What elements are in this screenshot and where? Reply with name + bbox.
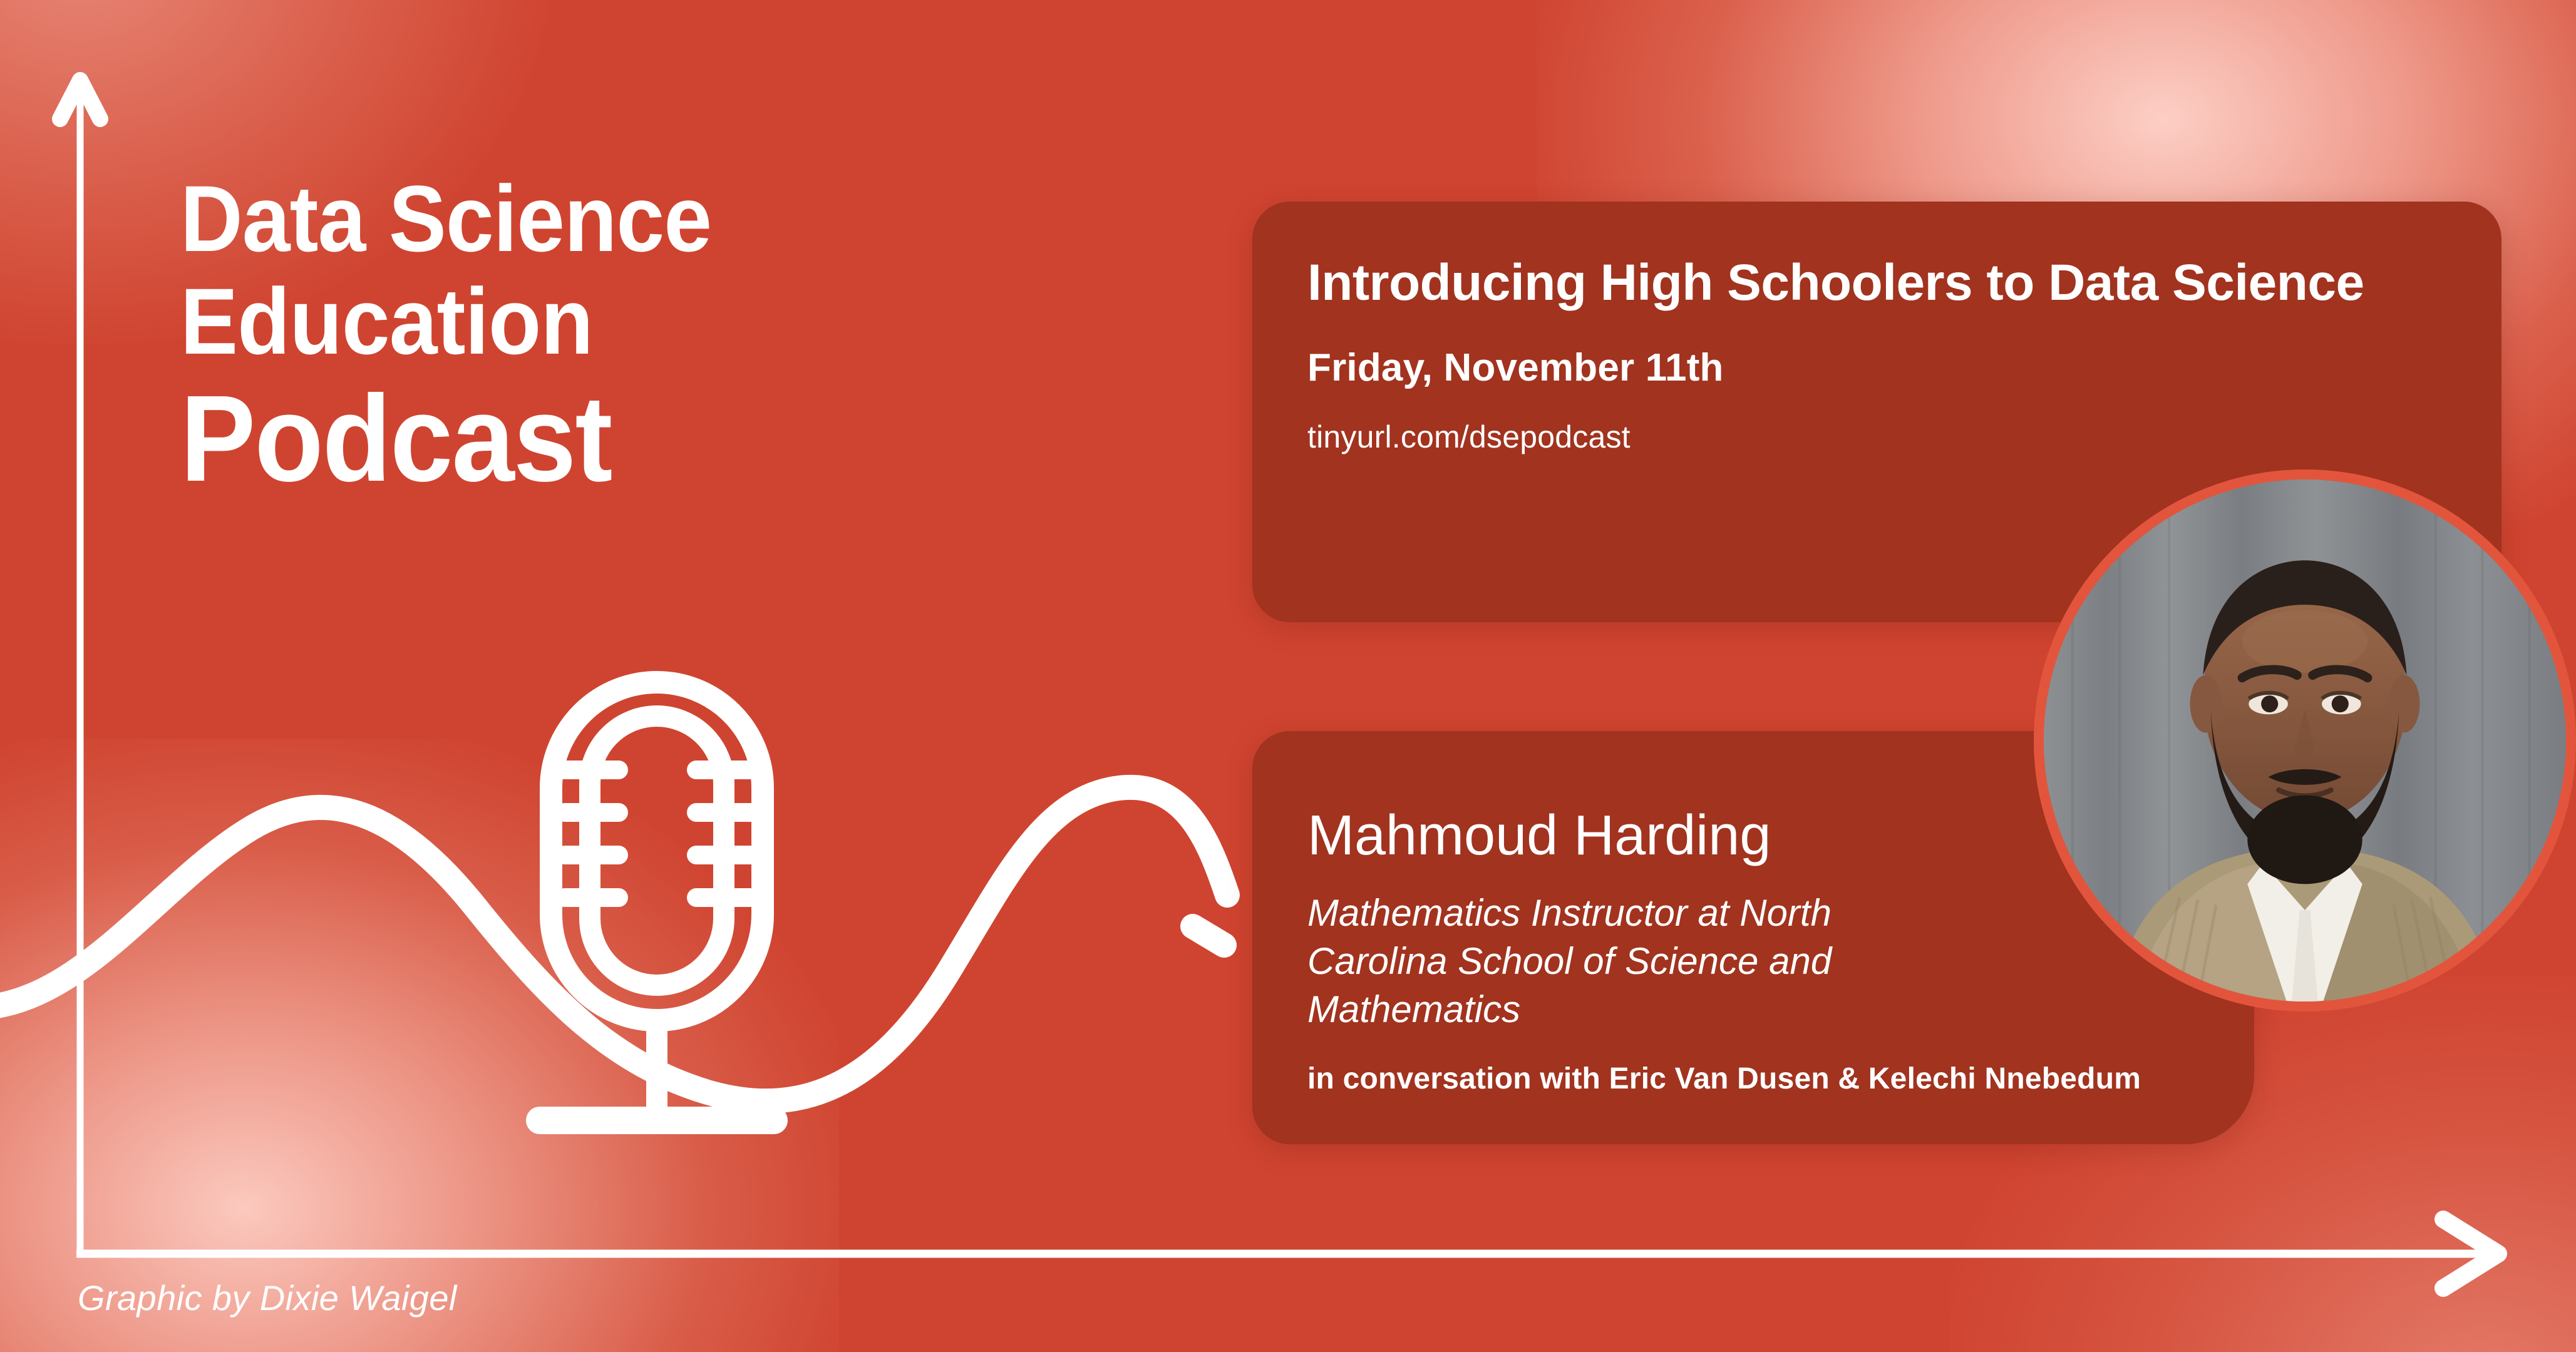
speaker-role: Mathematics Instructor at North Carolina… bbox=[1307, 889, 1959, 1033]
speaker-hosts: in conversation with Eric Van Dusen & Ke… bbox=[1307, 1061, 2210, 1097]
podcast-promo-poster: Data Science Education Podcast Introduci… bbox=[0, 0, 2576, 1352]
avatar bbox=[2044, 479, 2566, 1001]
episode-date: Friday, November 11th bbox=[1307, 345, 2458, 391]
sound-wave-curve bbox=[0, 787, 1227, 1101]
speaker-portrait bbox=[2034, 469, 2576, 1011]
episode-link[interactable]: tinyurl.com/dsepodcast bbox=[1307, 418, 2458, 456]
episode-title: Introducing High Schoolers to Data Scien… bbox=[1307, 253, 2409, 312]
brand-title-line-1: Data Science bbox=[180, 168, 958, 270]
graphic-credit: Graphic by Dixie Waigel bbox=[78, 1278, 457, 1318]
brand-headline: Data Science Education Podcast bbox=[180, 168, 1026, 501]
brand-accent-line: Podcast bbox=[180, 376, 958, 501]
brand-title-line-2: Education bbox=[180, 270, 958, 373]
microphone-icon bbox=[540, 682, 774, 1120]
